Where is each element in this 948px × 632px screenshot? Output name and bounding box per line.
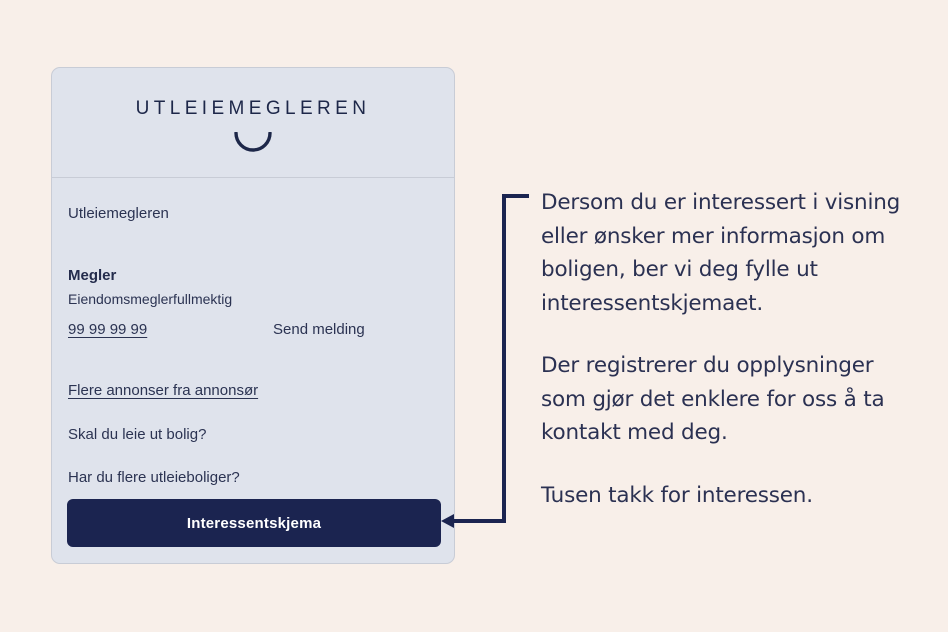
brand-wordmark: UTLEIEMEGLEREN [136, 99, 371, 118]
multiple-units-link[interactable]: Har du flere utleieboliger? [68, 469, 438, 486]
agent-role-block: Megler Eiendomsmeglerfullmektig [68, 265, 438, 310]
interest-form-button[interactable]: Interessentskjema [67, 499, 441, 547]
annotation-paragraph-1: Dersom du er interessert i visning eller… [541, 186, 911, 320]
card-body: Utleiemegleren Megler Eiendomsmeglerfull… [52, 178, 454, 486]
agent-role-title: Megler [68, 265, 438, 286]
agent-phone-link[interactable]: 99 99 99 99 [68, 321, 273, 338]
annotation-text-block: Dersom du er interessert i visning eller… [541, 186, 911, 512]
annotation-paragraph-3: Tusen takk for interessen. [541, 479, 911, 513]
rent-out-link[interactable]: Skal du leie ut bolig? [68, 426, 438, 443]
advertiser-links: Flere annonser fra annonsør Skal du leie… [68, 382, 438, 486]
agent-role-subtitle: Eiendomsmeglerfullmektig [68, 289, 438, 310]
smile-arc-icon [234, 132, 272, 152]
screenshot-stage: UTLEIEMEGLEREN Utleiemegleren Megler Eie… [0, 0, 948, 632]
annotation-leader-line [430, 185, 540, 535]
card-header: UTLEIEMEGLEREN [52, 68, 454, 178]
agency-name: Utleiemegleren [68, 204, 438, 224]
agent-contact-card: UTLEIEMEGLEREN Utleiemegleren Megler Eie… [51, 67, 455, 564]
annotation-paragraph-2: Der registrerer du opplysninger som gjør… [541, 349, 911, 450]
agent-contact-row: 99 99 99 99 Send melding [68, 321, 438, 338]
send-message-link[interactable]: Send melding [273, 321, 365, 338]
more-ads-link[interactable]: Flere annonser fra annonsør [68, 382, 258, 399]
arrow-head-icon [441, 514, 454, 528]
